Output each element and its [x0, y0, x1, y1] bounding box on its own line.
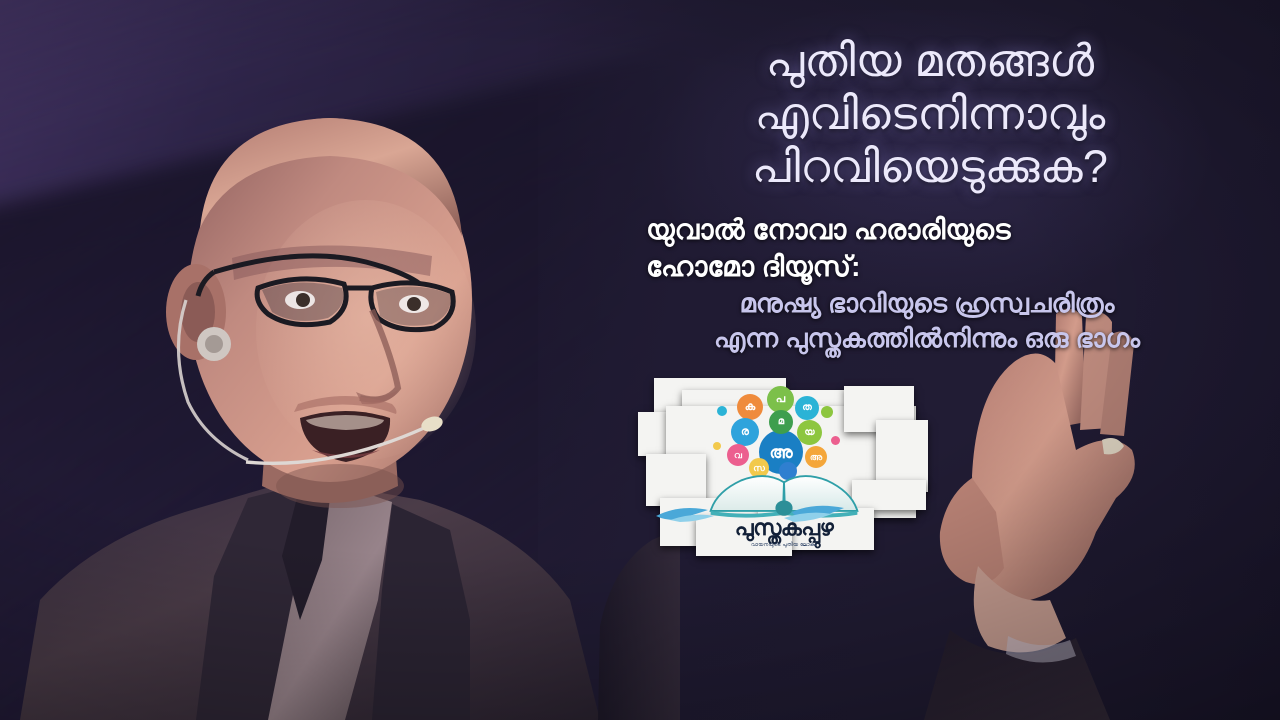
logo-bubble: വ [727, 444, 749, 466]
logo-bubbles: അ ക പ ത മ യ ര വ സ അ [709, 384, 859, 475]
logo-waves [650, 500, 850, 522]
subtitle-booktitle-line: ഹോമോ ദിയൂസ്: [622, 249, 1232, 286]
subtitle-subtitle-line: മനുഷ്യ ഭാവിയുടെ ഹ്രസ്വചരിത്രം [622, 286, 1232, 321]
logo-bubble: യ [797, 420, 822, 445]
logo-bubble-dot [717, 406, 727, 416]
logo-bubble-dot [713, 442, 721, 450]
subtitle-author-line: യുവാൽ നോവാ ഹരാരിയുടെ [622, 212, 1232, 249]
logo-bubble: ര [731, 418, 759, 446]
headline-line-3: പിറവിയെടുക്കുക? [630, 140, 1230, 193]
logo-bubble: മ [769, 410, 793, 434]
poster-canvas: പുതിയ മതങ്ങൾ എവിടെനിന്നാവും പിറവിയെടുക്ക… [0, 0, 1280, 720]
logo-bubble: അ [805, 446, 827, 468]
logo-content: അ ക പ ത മ യ ര വ സ അ [672, 382, 896, 548]
headline-block: പുതിയ മതങ്ങൾ എവിടെനിന്നാവും പിറവിയെടുക്ക… [630, 34, 1230, 193]
subtitle-block: യുവാൽ നോവാ ഹരാരിയുടെ ഹോമോ ദിയൂസ്: മനുഷ്യ… [622, 212, 1232, 356]
logo-bubble-dot [821, 406, 833, 418]
subtitle-excerpt-line: എന്ന പുസ്തകത്തിൽനിന്നും ഒരു ഭാഗം [622, 321, 1232, 356]
logo-bubble: ക [737, 394, 763, 420]
headline-line-2: എവിടെനിന്നാവും [630, 87, 1230, 140]
publisher-logo-card[interactable]: അ ക പ ത മ യ ര വ സ അ [638, 368, 932, 560]
logo-tagline: വായനയുടെ പുതിയ ലോകം [751, 542, 817, 548]
logo-bubble-dot [831, 436, 840, 445]
logo-bubble: പ [767, 386, 794, 413]
logo-bubble: ത [795, 396, 819, 420]
headline-line-1: പുതിയ മതങ്ങൾ [630, 34, 1230, 87]
